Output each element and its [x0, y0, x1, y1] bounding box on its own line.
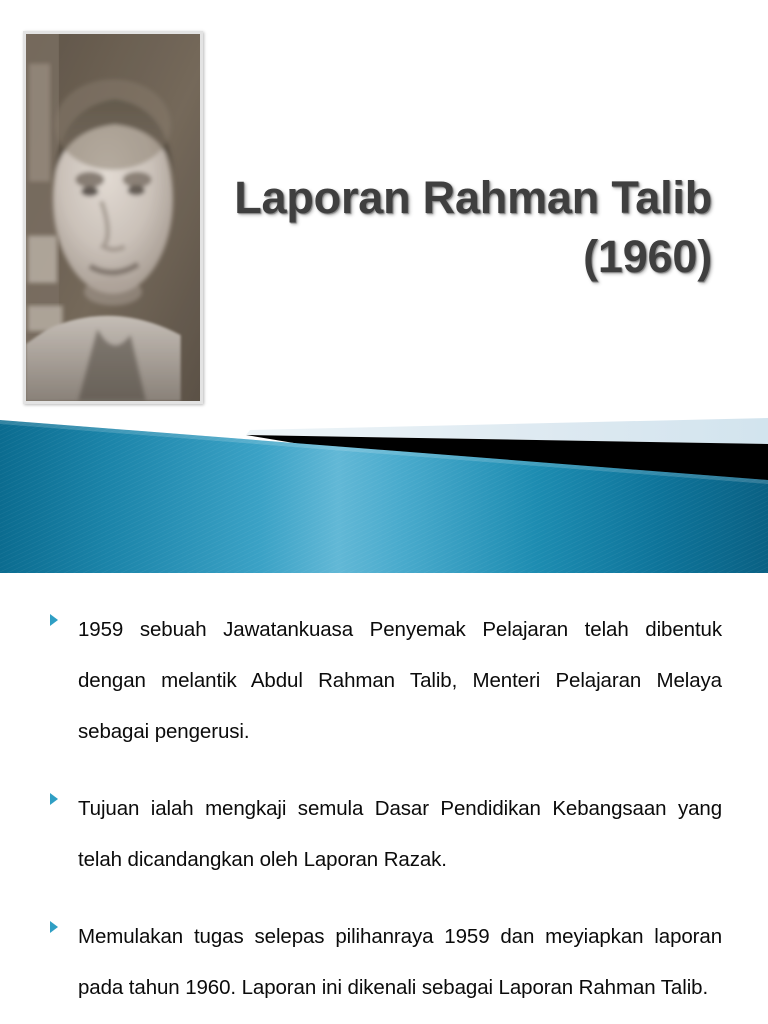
list-item: Memulakan tugas selepas pilihanraya 1959…: [0, 911, 768, 1013]
angled-banner-decoration: [0, 404, 768, 576]
triangle-right-icon: [50, 614, 58, 626]
bullet-text: 1959 sebuah Jawatankuasa Penyemak Pelaja…: [78, 604, 722, 757]
banner-shapes: [0, 404, 768, 576]
triangle-right-icon: [50, 793, 58, 805]
list-item: Tujuan ialah mengkaji semula Dasar Pendi…: [0, 783, 768, 885]
bullet-text: Memulakan tugas selepas pilihanraya 1959…: [78, 911, 722, 1013]
slide-title-zone: Laporan Rahman Talib (1960): [0, 0, 768, 418]
list-item: 1959 sebuah Jawatankuasa Penyemak Pelaja…: [0, 604, 768, 757]
page-title-line-2: (1960): [150, 227, 712, 286]
slide-body-content: 1959 sebuah Jawatankuasa Penyemak Pelaja…: [0, 604, 768, 1024]
bullet-text: Tujuan ialah mengkaji semula Dasar Pendi…: [78, 783, 722, 885]
presentation-slide: Laporan Rahman Talib (1960): [0, 0, 768, 1024]
triangle-right-icon: [50, 921, 58, 933]
page-title-line-1: Laporan Rahman Talib: [150, 168, 712, 227]
page-title: Laporan Rahman Talib (1960): [150, 168, 712, 287]
